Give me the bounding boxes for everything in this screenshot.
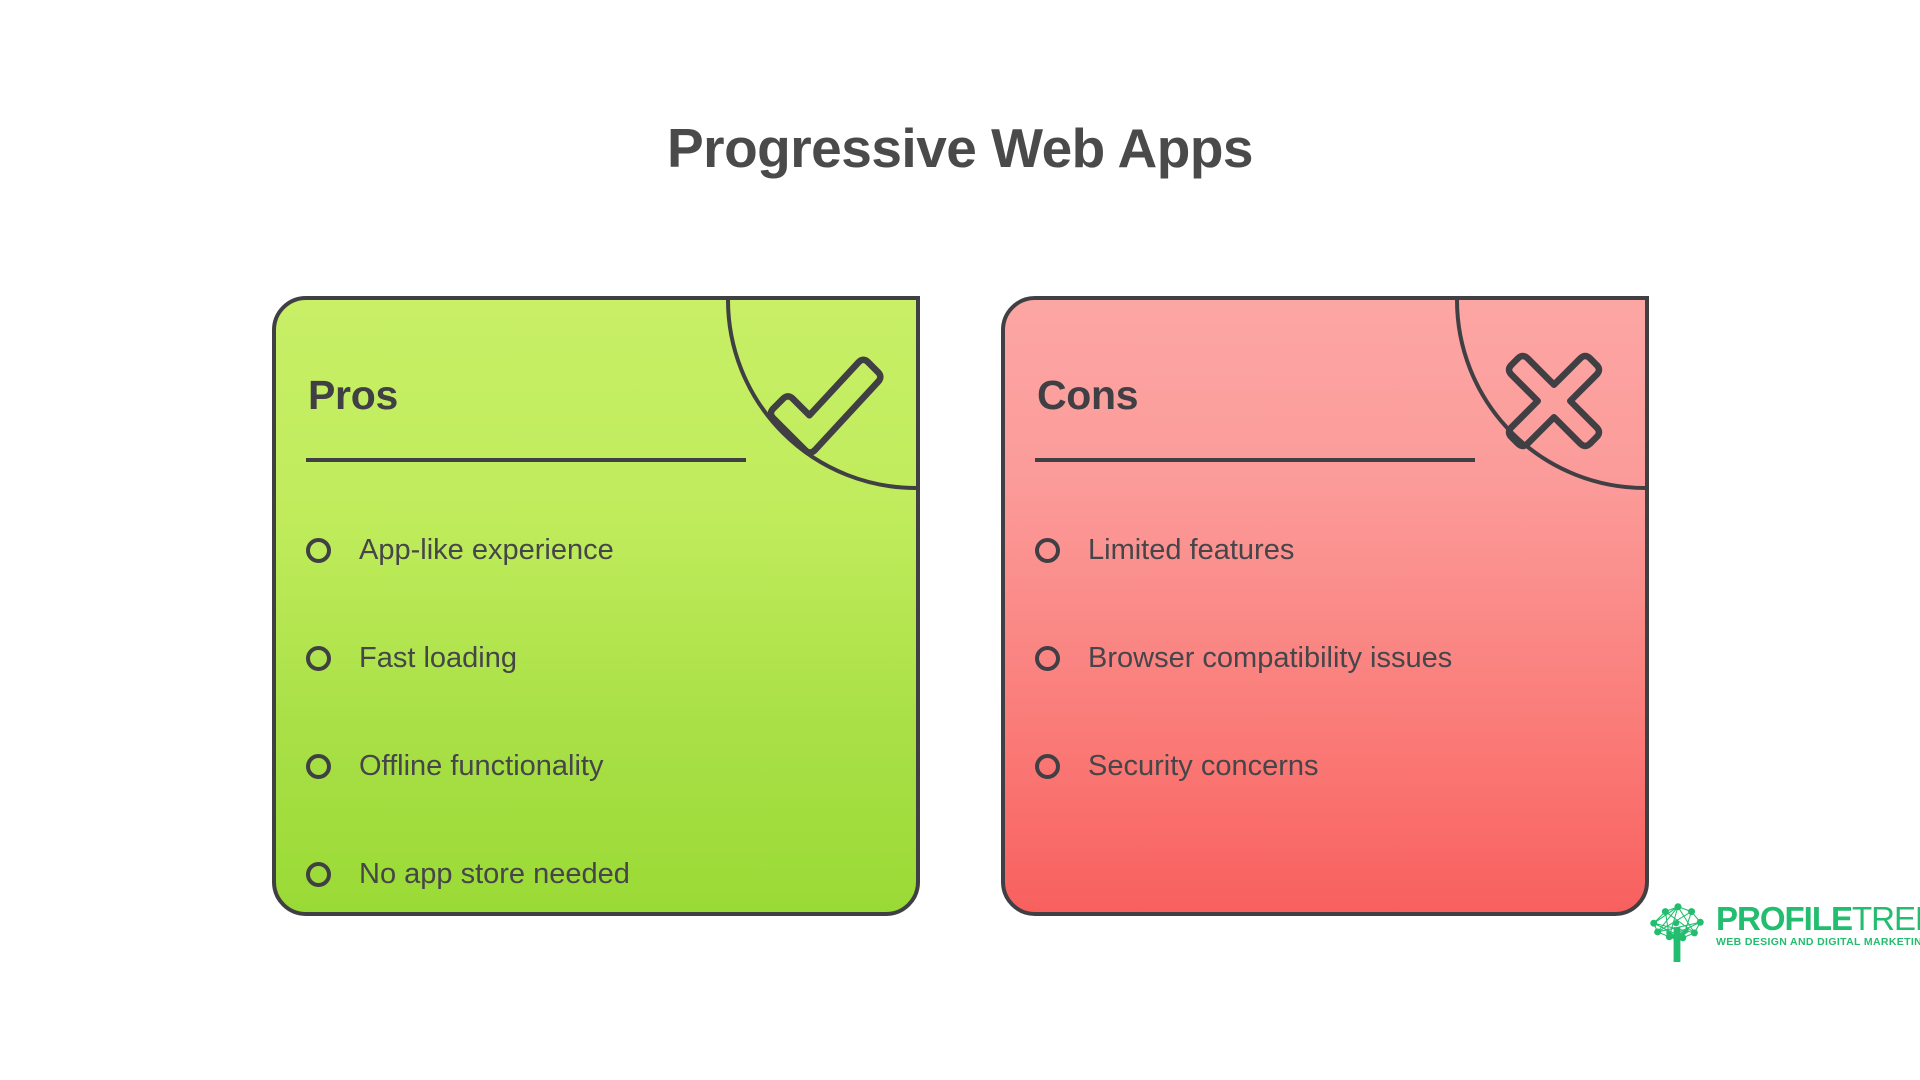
cons-card-divider [1035,458,1475,462]
list-item-label: Security concerns [1088,752,1319,781]
list-item[interactable]: No app store needed [306,820,892,916]
slide-canvas: Progressive Web Apps Pros App-like exper… [0,0,1920,1080]
list-item-label: Limited features [1088,536,1294,565]
list-item-label: Browser compatibility issues [1088,644,1452,673]
profiletree-logo[interactable]: PROFILETREE WEB DESIGN AND DIGITAL MARKE… [1646,898,1920,962]
pros-list: App-like experience Fast loading Offline… [306,496,892,916]
circle-bullet-icon [1035,538,1060,563]
cons-card: Cons Limited features Browser compatibil… [1001,296,1649,916]
logo-word-profile: PROFILE [1716,900,1852,937]
list-item-label: Fast loading [359,644,517,673]
circle-bullet-icon [306,862,331,887]
corner-arc-decoration [726,296,920,490]
list-item[interactable]: Limited features [1035,496,1621,604]
list-item-label: No app store needed [359,860,630,889]
list-item[interactable]: Fast loading [306,604,892,712]
cons-card-header: Cons [1037,372,1138,419]
logo-text-block: PROFILETREE WEB DESIGN AND DIGITAL MARKE… [1716,898,1920,948]
list-item-label: Offline functionality [359,752,604,781]
list-item[interactable]: Browser compatibility issues [1035,604,1621,712]
circle-bullet-icon [306,646,331,671]
logo-wordmark: PROFILETREE [1716,904,1920,934]
cross-icon [1489,336,1619,466]
logo-word-tree: TREE [1852,900,1920,937]
pros-card: Pros App-like experience Fast loading Of… [272,296,920,916]
list-item[interactable]: App-like experience [306,496,892,604]
circle-bullet-icon [306,538,331,563]
circle-bullet-icon [306,754,331,779]
logo-tagline: WEB DESIGN AND DIGITAL MARKETING [1716,936,1920,948]
circle-bullet-icon [1035,646,1060,671]
cons-list: Limited features Browser compatibility i… [1035,496,1621,820]
circle-bullet-icon [1035,754,1060,779]
list-item[interactable]: Offline functionality [306,712,892,820]
pros-card-header: Pros [308,372,398,419]
pros-card-divider [306,458,746,462]
list-item-label: App-like experience [359,536,614,565]
checkmark-icon [760,336,890,466]
network-tree-icon [1646,898,1708,962]
list-item[interactable]: Security concerns [1035,712,1621,820]
page-title: Progressive Web Apps [0,116,1920,180]
corner-arc-decoration [1455,296,1649,490]
